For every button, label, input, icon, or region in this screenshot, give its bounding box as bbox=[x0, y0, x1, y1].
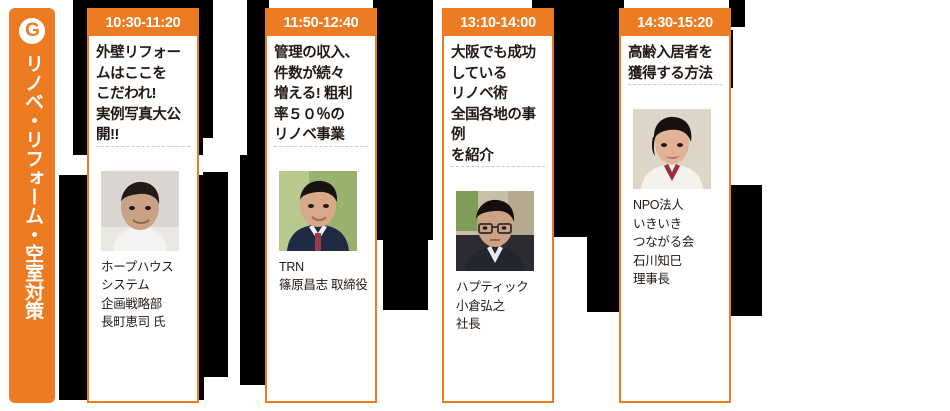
session-headline: 高齢入居者を 獲得する方法 bbox=[628, 43, 722, 84]
session-card[interactable]: 11:50-12:40 管理の収入、 件数が続々 増える! 粗利 率５０％の リ… bbox=[265, 8, 377, 403]
speaker-info: TRN 篠原昌志 取締役 bbox=[279, 258, 368, 303]
session-card[interactable]: 14:30-15:20 高齢入居者を 獲得する方法 NPO法人 いきいき つなが… bbox=[619, 8, 731, 403]
session-time-label: 10:30-11:20 bbox=[89, 10, 197, 36]
session-card-body: 管理の収入、 件数が続々 増える! 粗利 率５０％の リノベ事業 TRN 篠原昌… bbox=[267, 36, 375, 401]
session-divider bbox=[96, 146, 190, 147]
session-headline: 大阪でも成功 している リノベ術 全国各地の事例 を紹介 bbox=[451, 43, 545, 166]
card-spacer bbox=[274, 303, 368, 401]
card-spacer bbox=[451, 342, 545, 401]
session-card-body: 大阪でも成功 している リノベ術 全国各地の事例 を紹介 bbox=[444, 36, 552, 401]
backdrop-block-3 bbox=[203, 0, 213, 138]
backdrop-block-6 bbox=[240, 155, 268, 385]
session-divider bbox=[628, 84, 722, 85]
session-card-body: 外壁リフォー ムはここを こだわれ! 実例写真大公 開!! ホープハウス システ… bbox=[89, 36, 197, 401]
session-card[interactable]: 10:30-11:20 外壁リフォー ムはここを こだわれ! 実例写真大公 開!… bbox=[87, 8, 199, 403]
backdrop-block-4 bbox=[203, 172, 228, 377]
speaker-info: ホープハウス システム 企画戦略部 長町恵司 氏 bbox=[101, 258, 190, 340]
speaker-photo bbox=[456, 191, 534, 271]
session-time-label: 11:50-12:40 bbox=[267, 10, 375, 36]
backdrop-block-11 bbox=[729, 0, 745, 27]
speaker-info: NPO法人 いきいき つながる会 石川知巳 理事長 bbox=[633, 196, 722, 297]
backdrop-block-7 bbox=[373, 0, 433, 240]
speaker-photo bbox=[279, 171, 357, 251]
session-headline: 管理の収入、 件数が続々 増える! 粗利 率５０％の リノベ事業 bbox=[274, 43, 368, 146]
speaker-photo bbox=[101, 171, 179, 251]
g-logo-icon: G bbox=[19, 18, 45, 44]
backdrop-block-8 bbox=[383, 240, 428, 310]
speaker-photo bbox=[633, 109, 711, 189]
card-spacer bbox=[96, 340, 190, 401]
session-divider bbox=[451, 166, 545, 167]
session-divider bbox=[274, 146, 368, 147]
backdrop-block-13 bbox=[729, 185, 762, 316]
session-time-label: 14:30-15:20 bbox=[621, 10, 729, 36]
session-card-body: 高齢入居者を 獲得する方法 NPO法人 いきいき つながる会 石川知巳 理事長 bbox=[621, 36, 729, 401]
session-headline: 外壁リフォー ムはここを こだわれ! 実例写真大公 開!! bbox=[96, 43, 190, 146]
card-spacer bbox=[628, 297, 722, 401]
session-card[interactable]: 13:10-14:00 大阪でも成功 している リノベ術 全国各地の事例 を紹介 bbox=[442, 8, 554, 403]
category-sidebar-tab: G リノベ・リフォーム・空室対策 bbox=[9, 8, 55, 403]
session-time-label: 13:10-14:00 bbox=[444, 10, 552, 36]
speaker-info: ハプティック 小倉弘之 社長 bbox=[456, 278, 545, 342]
seminar-schedule-banner: G リノベ・リフォーム・空室対策 10:30-11:20 外壁リフォー ムはここ… bbox=[0, 0, 950, 411]
sidebar-category-title: リノベ・リフォーム・空室対策 bbox=[20, 54, 44, 320]
